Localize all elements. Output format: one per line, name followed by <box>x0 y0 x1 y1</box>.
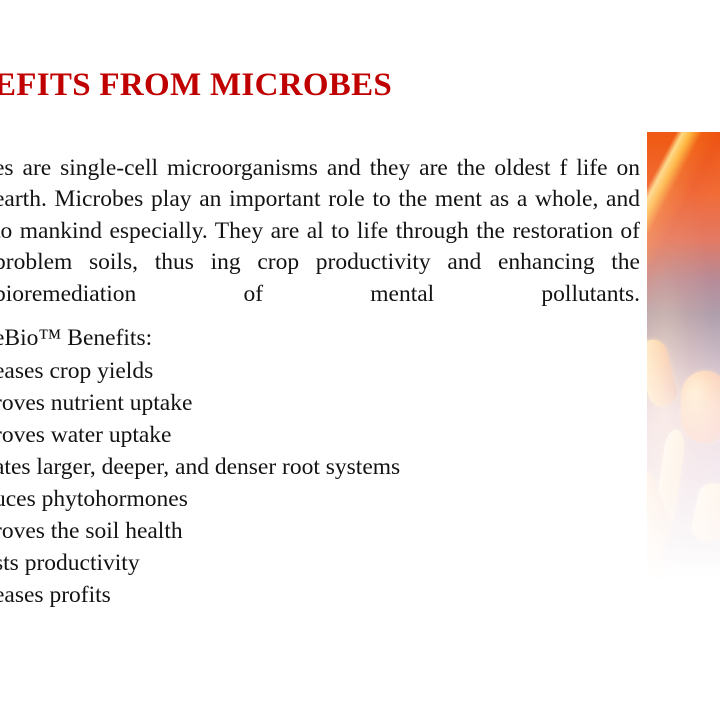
presentation-slide: EFITS FROM MICROBES es are single-cell m… <box>0 0 720 720</box>
microbe-micrograph-image <box>647 132 720 582</box>
benefits-heading: eBio™ Benefits: <box>0 322 614 354</box>
page-title: EFITS FROM MICROBES <box>0 65 694 105</box>
list-item: roves water uptake <box>0 419 614 451</box>
list-item: ates larger, deeper, and denser root sys… <box>0 451 614 483</box>
list-item: roves nutrient uptake <box>0 387 614 419</box>
photo-bottom-fade <box>647 132 720 582</box>
benefits-block: eBio™ Benefits: eases crop yields roves … <box>0 322 614 611</box>
list-item: sts productivity <box>0 547 614 579</box>
list-item: eases profits <box>0 579 614 611</box>
list-item: roves the soil health <box>0 515 614 547</box>
intro-paragraph: es are single-cell microorganisms and th… <box>0 153 640 342</box>
list-item: uces phytohormones <box>0 483 614 515</box>
benefits-list: eases crop yields roves nutrient uptake … <box>0 355 614 611</box>
list-item: eases crop yields <box>0 355 614 387</box>
